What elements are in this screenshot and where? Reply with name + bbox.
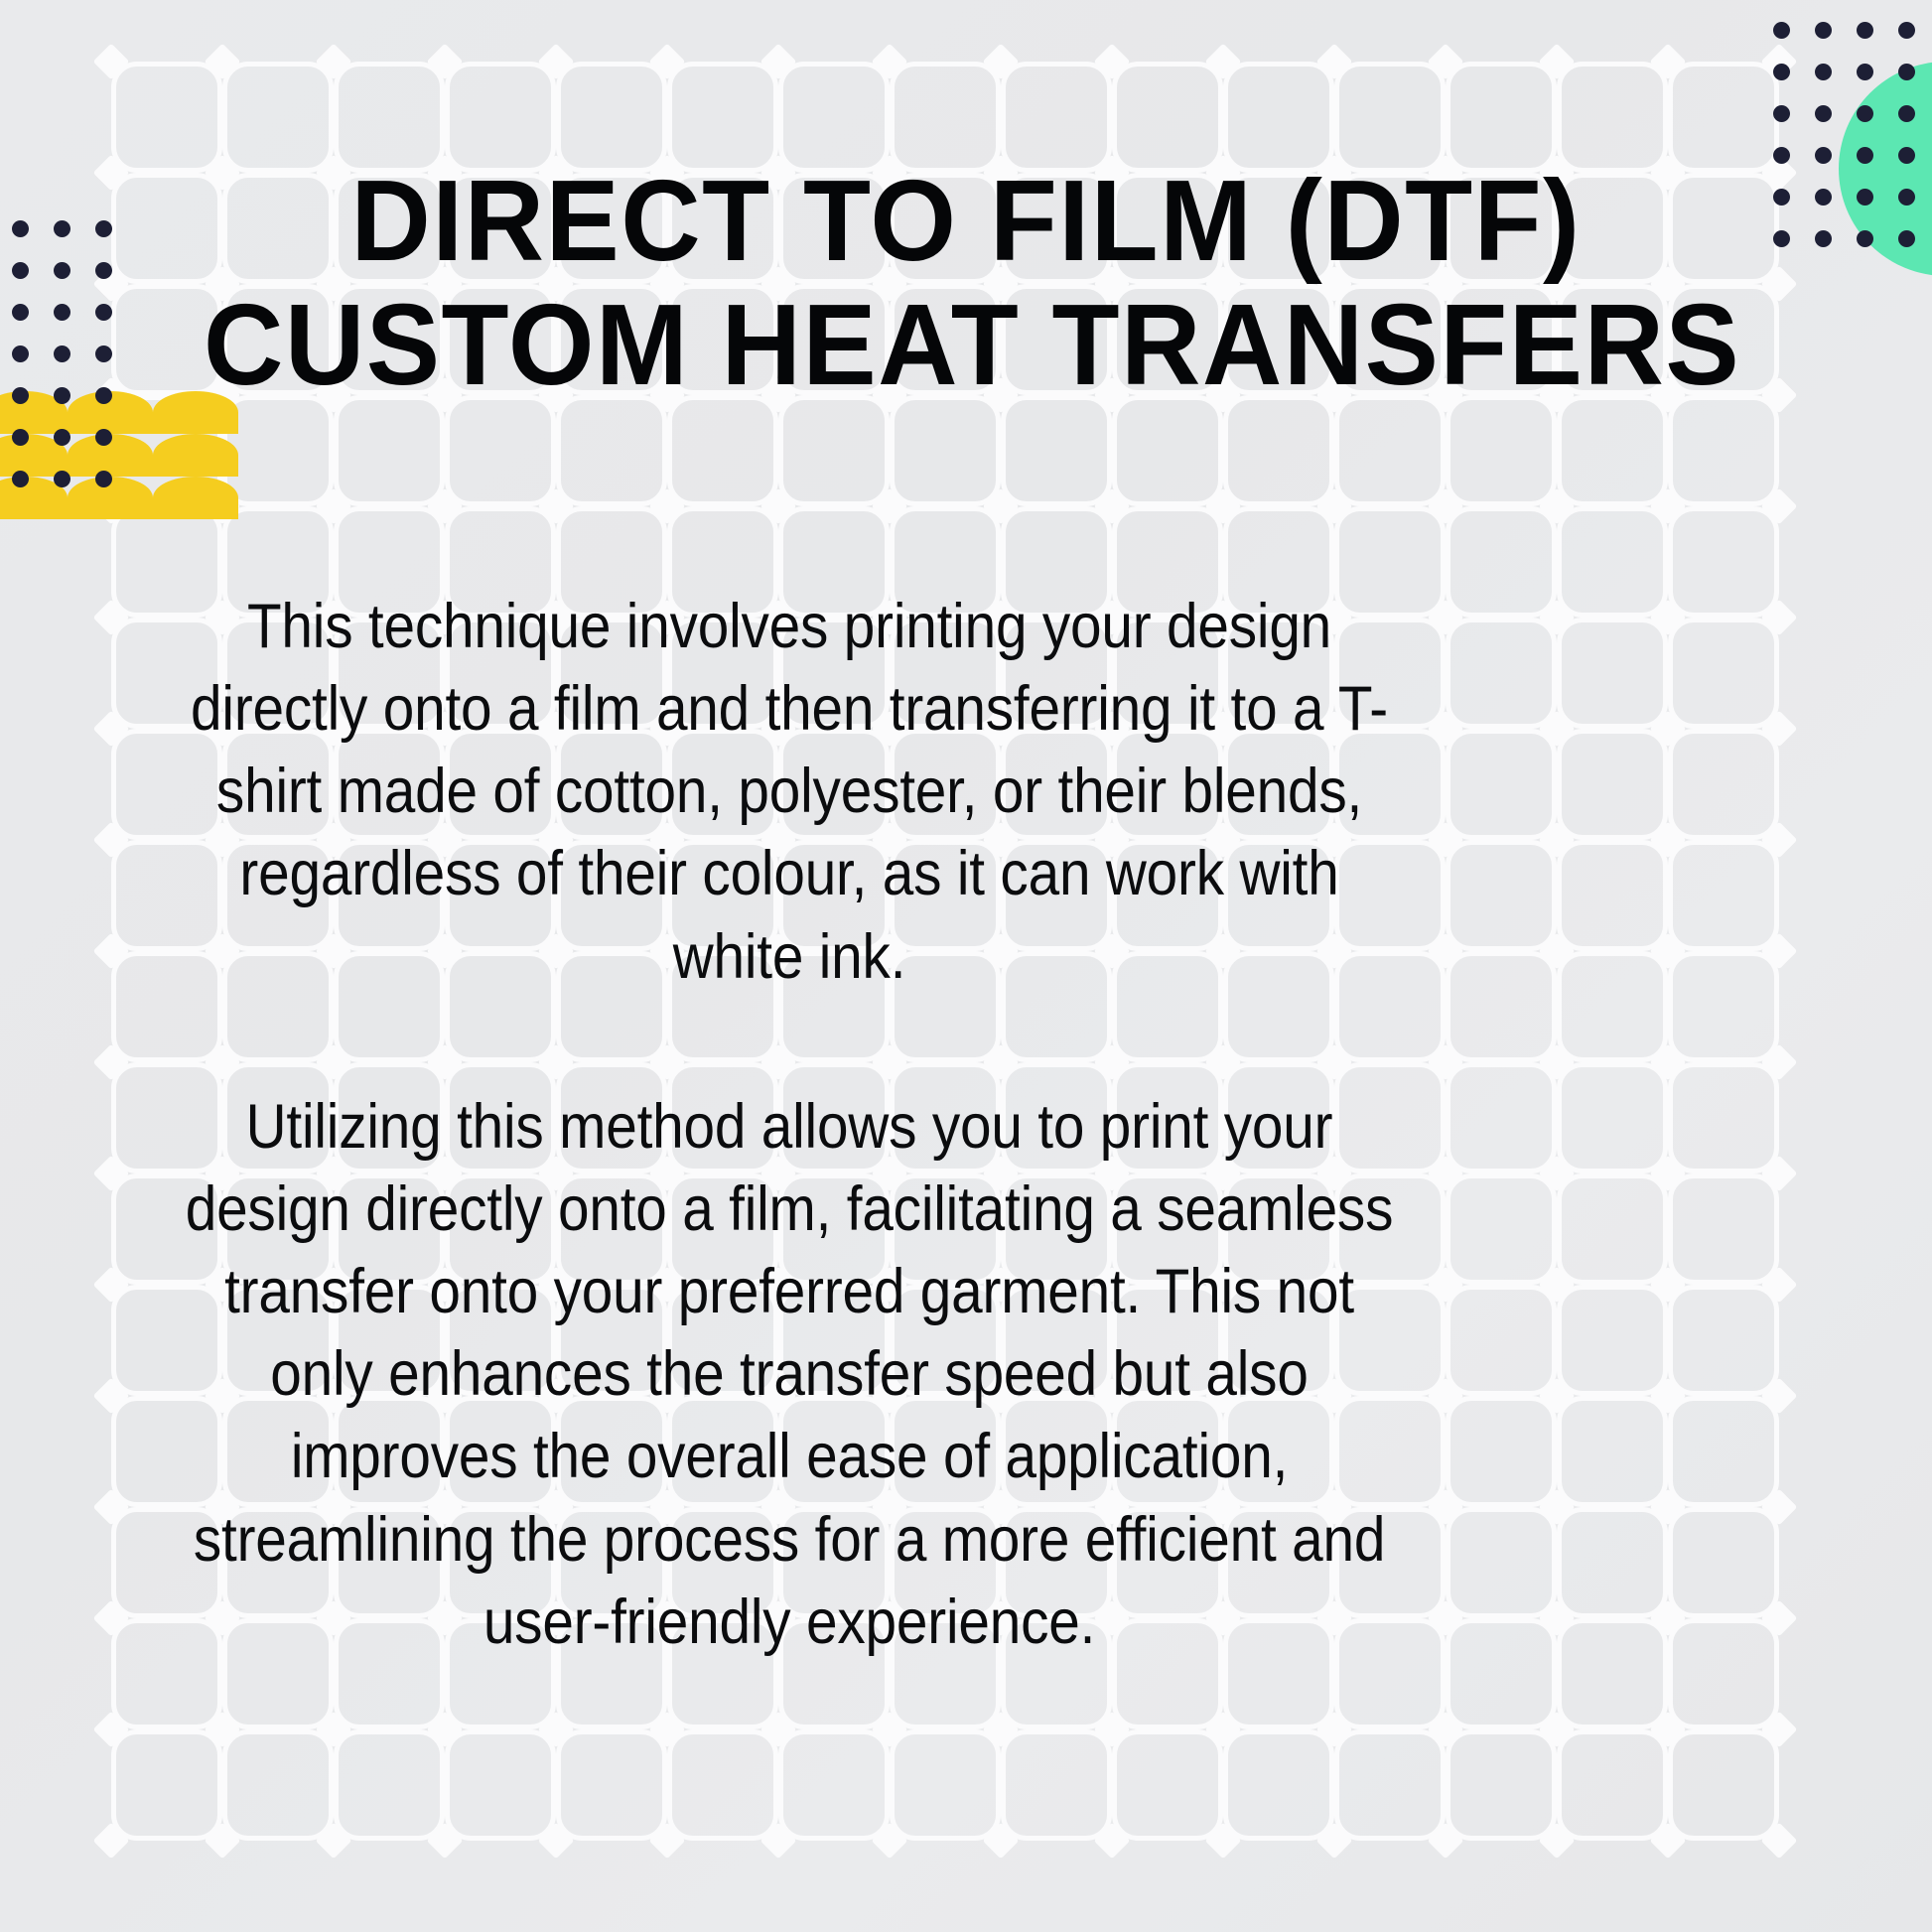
title-line-2: CUSTOM HEAT TRANSFERS [204,283,1728,407]
title-line-1: DIRECT TO FILM (DTF) [204,159,1728,283]
body-text-block: This technique involves printing your de… [99,586,1479,1664]
page-title: DIRECT TO FILM (DTF) CUSTOM HEAT TRANSFE… [204,159,1728,408]
body-paragraph-2: Utilizing this method allows you to prin… [169,1086,1411,1664]
poster-canvas: DIRECT TO FILM (DTF) CUSTOM HEAT TRANSFE… [0,0,1932,1932]
poster-content: DIRECT TO FILM (DTF) CUSTOM HEAT TRANSFE… [0,0,1932,1932]
body-paragraph-1: This technique involves printing your de… [169,586,1411,999]
